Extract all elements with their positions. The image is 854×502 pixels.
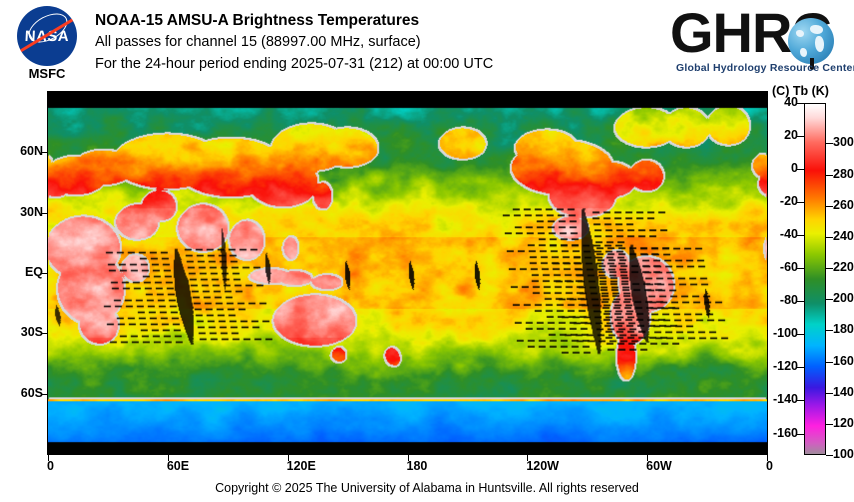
longitude-label: 180 <box>407 459 428 473</box>
longitude-label: 0 <box>47 459 54 473</box>
longitude-tick <box>48 455 49 461</box>
colorbar-kelvin-label: 260 <box>833 198 854 212</box>
longitude-tick <box>168 455 169 461</box>
longitude-tick <box>647 455 648 461</box>
colorbar <box>804 103 826 455</box>
colorbar-kelvin-tick <box>826 237 833 238</box>
colorbar-kelvin-tick <box>826 393 833 394</box>
globe-landmass <box>800 48 807 57</box>
colorbar-kelvin-label: 200 <box>833 291 854 305</box>
colorbar-celsius-tick <box>797 202 804 203</box>
colorbar-celsius-label: -60 <box>780 260 798 274</box>
colorbar-celsius-label: -20 <box>780 194 798 208</box>
colorbar-kelvin-tick <box>826 143 833 144</box>
longitude-tick <box>767 455 768 461</box>
colorbar-kelvin-label: 120 <box>833 416 854 430</box>
colorbar-celsius-tick <box>797 103 804 104</box>
globe-landmass <box>796 30 804 37</box>
colorbar-kelvin-label: 300 <box>833 135 854 149</box>
latitude-label: 30N <box>2 205 43 219</box>
colorbar-celsius-tick <box>797 301 804 302</box>
colorbar-celsius-label: -140 <box>773 392 798 406</box>
colorbar-header: (C) Tb (K) <box>772 84 829 98</box>
colorbar-celsius-label: -100 <box>773 326 798 340</box>
longitude-tick <box>408 455 409 461</box>
colorbar-kelvin-tick <box>826 268 833 269</box>
colorbar-celsius-label: -160 <box>773 426 798 440</box>
latitude-tick <box>41 333 47 334</box>
colorbar-celsius-label: 0 <box>791 161 798 175</box>
latitude-label: 30S <box>2 325 43 339</box>
latitude-tick <box>41 394 47 395</box>
colorbar-celsius-label: -40 <box>780 227 798 241</box>
latitude-tick <box>41 152 47 153</box>
colorbar-celsius-tick <box>797 169 804 170</box>
colorbar-kelvin-tick <box>826 362 833 363</box>
colorbar-celsius-tick <box>797 235 804 236</box>
colorbar-celsius-tick <box>797 434 804 435</box>
globe-landmass <box>810 25 823 34</box>
colorbar-kelvin-tick <box>826 206 833 207</box>
colorbar-kelvin-tick <box>826 455 833 456</box>
colorbar-celsius-label: -80 <box>780 293 798 307</box>
latitude-tick <box>41 213 47 214</box>
copyright-notice: Copyright © 2025 The University of Alaba… <box>0 481 854 495</box>
longitude-label: 60W <box>646 459 672 473</box>
colorbar-celsius-tick <box>797 334 804 335</box>
colorbar-kelvin-label: 240 <box>833 229 854 243</box>
colorbar-celsius-label: 20 <box>784 128 798 142</box>
longitude-label: 120E <box>287 459 316 473</box>
nasa-center-label: MSFC <box>8 66 86 81</box>
colorbar-celsius-label: 40 <box>784 95 798 109</box>
colorbar-kelvin-label: 180 <box>833 322 854 336</box>
colorbar-celsius-tick <box>797 136 804 137</box>
colorbar-celsius-tick <box>797 400 804 401</box>
longitude-tick <box>527 455 528 461</box>
colorbar-celsius-tick <box>797 367 804 368</box>
nasa-meatball-disc: NASA <box>17 6 77 66</box>
ghrc-logo: GHRC Global Hydrology Resource Center <box>670 4 836 78</box>
colorbar-kelvin-label: 220 <box>833 260 854 274</box>
colorbar-kelvin-label: 160 <box>833 354 854 368</box>
colorbar-kelvin-tick <box>826 424 833 425</box>
longitude-label: 60E <box>167 459 189 473</box>
latitude-tick <box>41 273 47 274</box>
latitude-label: EQ <box>2 265 43 279</box>
colorbar-kelvin-tick <box>826 330 833 331</box>
colorbar-celsius-tick <box>797 268 804 269</box>
latitude-label: 60N <box>2 144 43 158</box>
longitude-label: 0 <box>766 459 773 473</box>
colorbar-kelvin-tick <box>826 299 833 300</box>
title-block: NOAA-15 AMSU-A Brightness Temperatures A… <box>95 10 493 75</box>
page-subtitle-period: For the 24-hour period ending 2025-07-31… <box>95 53 493 75</box>
brightness-temperature-heatmap <box>48 92 767 454</box>
colorbar-kelvin-tick <box>826 175 833 176</box>
colorbar-gradient <box>804 103 826 455</box>
colorbar-kelvin-label: 280 <box>833 167 854 181</box>
page-subtitle-channel: All passes for channel 15 (88997.00 MHz,… <box>95 31 493 53</box>
longitude-tick <box>288 455 289 461</box>
ghrc-subtitle: Global Hydrology Resource Center <box>676 62 854 74</box>
latitude-label: 60S <box>2 386 43 400</box>
colorbar-kelvin-label: 140 <box>833 385 854 399</box>
page-title: NOAA-15 AMSU-A Brightness Temperatures <box>95 10 493 31</box>
globe-landmass <box>815 36 824 52</box>
map-plot-area <box>47 91 768 455</box>
colorbar-celsius-label: -120 <box>773 359 798 373</box>
colorbar-kelvin-label: 100 <box>833 447 854 461</box>
nasa-msfc-logo: NASA MSFC <box>8 6 86 82</box>
longitude-label: 120W <box>526 459 559 473</box>
